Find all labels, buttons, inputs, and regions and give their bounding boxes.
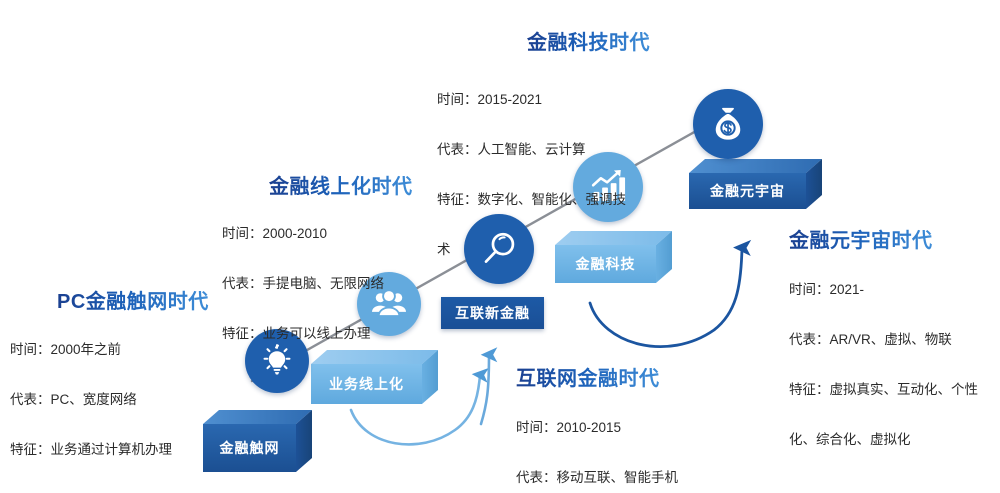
slab-box-internet-new-finance-label: 互联新金融	[441, 297, 544, 329]
era-line: 化、综合化、虚拟化	[789, 427, 1000, 452]
era-line: 代表：PC、宽度网络	[10, 387, 220, 412]
era-line: 时间：2010-2015	[516, 415, 778, 440]
era-line: 代表：AR/VR、虚拟、物联	[789, 327, 1000, 352]
era-line: 代表：人工智能、云计算	[437, 137, 677, 162]
infographic-canvas: 互联新金融 金融触网 业务线上化 金融科技 金融元宇宙	[0, 0, 1000, 493]
era-body-finance-metaverse: 时间：2021- 代表：AR/VR、虚拟、物联 特征：虚拟真实、互动化、个性 化…	[789, 252, 1000, 477]
money-bag-icon[interactable]	[693, 89, 763, 159]
era-title-fintech: 金融科技时代	[527, 26, 650, 55]
era-body-internet-finance: 时间：2010-2015 代表：移动互联、智能手机 特征：互联网公司进军金融业务…	[516, 390, 778, 493]
era-title-finance-onlineization: 金融线上化时代	[269, 170, 413, 199]
era-line: 特征：虚拟真实、互动化、个性	[789, 377, 1000, 402]
era-line: 时间：2021-	[789, 277, 1000, 302]
era-title-internet-finance: 互联网金融时代	[516, 362, 660, 391]
era-body-pc-finance-online: 时间：2000年之前 代表：PC、宽度网络 特征：业务通过计算机办理	[10, 312, 220, 487]
era-line: 特征：业务可以线上办理	[222, 321, 437, 346]
era-line: 特征：业务通过计算机办理	[10, 437, 220, 462]
era-line: 代表：手提电脑、无限网络	[222, 271, 437, 296]
era-line: 术	[437, 237, 677, 262]
era-line: 时间：2000年之前	[10, 337, 220, 362]
era-body-fintech: 时间：2015-2021 代表：人工智能、云计算 特征：数字化、智能化、强调技 …	[437, 62, 677, 287]
era-line: 时间：2000-2010	[222, 221, 437, 246]
slab-box-finance-metaverse-label: 金融元宇宙	[689, 173, 806, 209]
era-body-finance-onlineization: 时间：2000-2010 代表：手提电脑、无限网络 特征：业务可以线上办理	[222, 196, 437, 371]
era-line: 代表：移动互联、智能手机	[516, 465, 778, 490]
straight-arrow-stage2	[481, 355, 489, 424]
era-line: 特征：数字化、智能化、强调技	[437, 187, 677, 212]
era-line: 时间：2015-2021	[437, 87, 677, 112]
era-title-pc-finance-online: PC金融触网时代	[57, 285, 209, 314]
era-title-finance-metaverse: 金融元宇宙时代	[789, 224, 933, 253]
slab-box-internet-new-finance[interactable]: 互联新金融	[441, 297, 544, 329]
